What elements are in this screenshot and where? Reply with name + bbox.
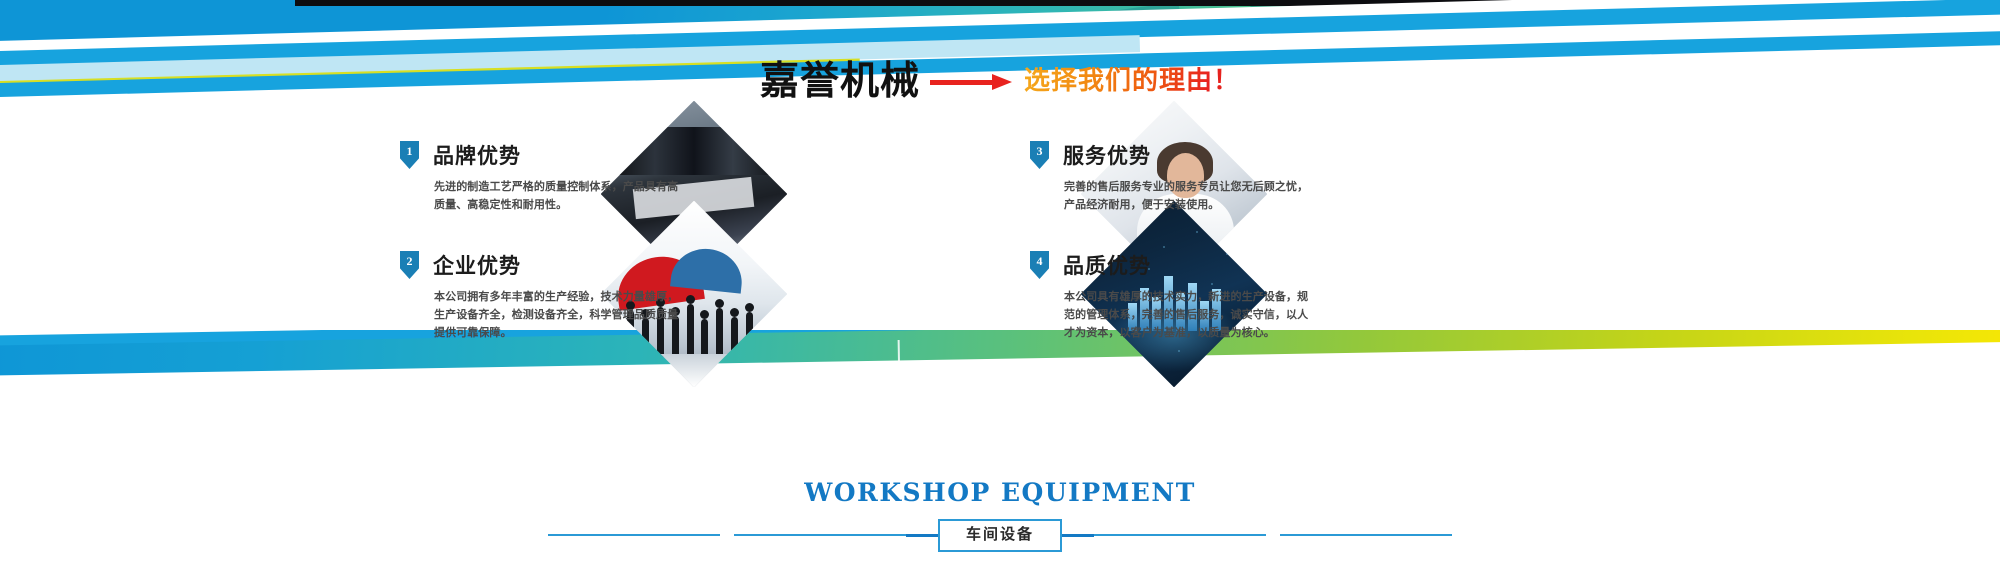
brand-name: 嘉誉机械 [760,62,920,101]
feature-title: 品质优势 [1063,255,1151,276]
feature-title: 企业优势 [433,255,521,276]
feature-item-quality: 4 品质优势 本公司具有雄厚的技术实力，新进的生产设备，规范的管理体系，完善的售… [1030,250,1630,341]
slogan-text: 选择我们的理由！ [1024,67,1240,96]
section-title-rule-row: 车间设备 [0,519,2000,552]
headline: 嘉誉机械 选择我们的理由！ [0,62,2000,101]
feature-item-enterprise: 2 企业优势 本公司拥有多年丰富的生产经验，技术力量雄厚，生产设备齐全，检测设备… [400,250,1000,341]
poster-canvas: 嘉誉机械 选择我们的理由！ 1 品牌优势 先进的制造工艺严格的质量控制体系，产品… [0,0,2000,577]
feature-number-badge: 1 [400,141,419,169]
feature-grid: 1 品牌优势 先进的制造工艺严格的质量控制体系，产品具有高质量、高稳定性和耐用性… [400,140,1630,375]
feature-header: 3 服务优势 [1030,140,1630,170]
feature-title: 品牌优势 [433,145,521,166]
rule-left-long [548,534,720,536]
feature-number-badge: 2 [400,251,419,279]
feature-description: 先进的制造工艺严格的质量控制体系，产品具有高质量、高稳定性和耐用性。 [434,178,684,214]
feature-header: 2 企业优势 [400,250,1000,280]
feature-header: 4 品质优势 [1030,250,1630,280]
feature-item-service: 3 服务优势 完善的售后服务专业的服务专员让您无后顾之忧，产品经济耐用，便于安装… [1030,140,1630,214]
section-title-english: WORKSHOP EQUIPMENT [0,478,2000,507]
feature-title: 服务优势 [1063,145,1151,166]
top-banner [0,0,2000,120]
feature-description: 本公司具有雄厚的技术实力，新进的生产设备，规范的管理体系，完善的售后服务，诚实守… [1064,288,1314,341]
feature-header: 1 品牌优势 [400,140,1000,170]
feature-description: 本公司拥有多年丰富的生产经验，技术力量雄厚，生产设备齐全，检测设备齐全，科学管理… [434,288,684,341]
rule-left-long-2 [734,534,906,536]
rule-right-long-2 [1280,534,1452,536]
section-title-chinese: 车间设备 [938,519,1062,552]
feature-item-brand: 1 品牌优势 先进的制造工艺严格的质量控制体系，产品具有高质量、高稳定性和耐用性… [400,140,1000,214]
rule-right-long [1094,534,1266,536]
feature-number-badge: 3 [1030,141,1049,169]
feature-description: 完善的售后服务专业的服务专员让您无后顾之忧，产品经济耐用，便于安装使用。 [1064,178,1314,214]
right-arrow-icon [930,71,1014,93]
feature-number-badge: 4 [1030,251,1049,279]
section-title: WORKSHOP EQUIPMENT 车间设备 [0,478,2000,552]
